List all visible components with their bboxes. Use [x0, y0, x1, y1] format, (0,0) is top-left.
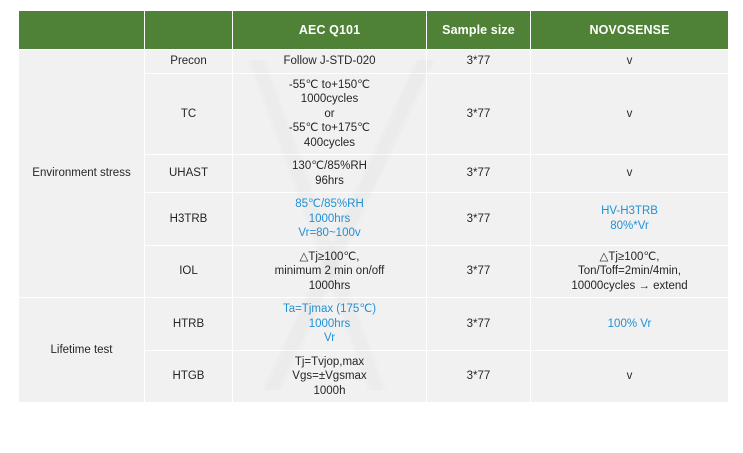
cell-line: v	[534, 369, 725, 384]
table-row: Lifetime testHTRBTa=Tjmax (175℃)1000hrsV…	[19, 298, 728, 350]
test-name-cell-precon: Precon	[145, 50, 232, 73]
column-header-sample-size: Sample size	[427, 11, 530, 49]
aec-spec-cell-precon: Follow J-STD-020	[233, 50, 426, 73]
sample-size-cell-htgb: 3*77	[427, 351, 530, 403]
aec-spec-cell-htgb: Tj=Tvjop,maxVgs=±Vgsmax1000h	[233, 351, 426, 403]
test-name-cell-uhast: UHAST	[145, 155, 232, 192]
qualification-test-table: AEC Q101 Sample size NOVOSENSE Environme…	[18, 10, 729, 403]
table-row: Environment stressPreconFollow J-STD-020…	[19, 50, 728, 73]
cell-line: △Tj≥100℃,	[236, 250, 423, 265]
novosense-spec-cell-iol: △Tj≥100℃,Ton/Toff=2min/4min,10000cycles …	[531, 246, 728, 298]
cell-line: 85℃/85%RH	[236, 197, 423, 212]
cell-line: △Tj≥100℃,	[534, 250, 725, 265]
cell-line: Tj=Tvjop,max	[236, 355, 423, 370]
column-header-category	[19, 11, 144, 49]
cell-line: 1000cycles	[236, 92, 423, 107]
novosense-spec-cell-htgb: v	[531, 351, 728, 403]
table-header: AEC Q101 Sample size NOVOSENSE	[19, 11, 728, 49]
sample-size-cell-precon: 3*77	[427, 50, 530, 73]
test-name-cell-htrb: HTRB	[145, 298, 232, 350]
test-name-cell-tc: TC	[145, 74, 232, 155]
cell-line: 1000hrs	[236, 212, 423, 227]
sample-size-cell-h3trb: 3*77	[427, 193, 530, 245]
cell-line: or	[236, 107, 423, 122]
test-name-cell-h3trb: H3TRB	[145, 193, 232, 245]
sample-size-cell-iol: 3*77	[427, 246, 530, 298]
cell-line: 96hrs	[236, 174, 423, 189]
aec-spec-cell-htrb: Ta=Tjmax (175℃)1000hrsVr	[233, 298, 426, 350]
category-cell-environment-stress: Environment stress	[19, 50, 144, 297]
cell-line: Vgs=±Vgsmax	[236, 369, 423, 384]
novosense-spec-cell-uhast: v	[531, 155, 728, 192]
screenshot-canvas: AEC Q101 Sample size NOVOSENSE Environme…	[0, 0, 743, 453]
cell-line: -55℃ to+150℃	[236, 78, 423, 93]
cell-line: Ton/Toff=2min/4min,	[534, 264, 725, 279]
novosense-spec-cell-tc: v	[531, 74, 728, 155]
column-header-aec-q101: AEC Q101	[233, 11, 426, 49]
table-body: Environment stressPreconFollow J-STD-020…	[19, 50, 728, 402]
cell-line: -55℃ to+175℃	[236, 121, 423, 136]
aec-spec-cell-tc: -55℃ to+150℃1000cyclesor-55℃ to+175℃400c…	[233, 74, 426, 155]
column-header-test	[145, 11, 232, 49]
novosense-spec-cell-htrb: 100% Vr	[531, 298, 728, 350]
test-name-cell-iol: IOL	[145, 246, 232, 298]
cell-line: 10000cycles → extend	[534, 279, 725, 294]
test-name-cell-htgb: HTGB	[145, 351, 232, 403]
table-header-row: AEC Q101 Sample size NOVOSENSE	[19, 11, 728, 49]
cell-line: 1000hrs	[236, 317, 423, 332]
column-header-novosense: NOVOSENSE	[531, 11, 728, 49]
cell-line: HV-H3TRB	[534, 204, 725, 219]
cell-line: 1000h	[236, 384, 423, 399]
cell-line: 400cycles	[236, 136, 423, 151]
cell-line: 1000hrs	[236, 279, 423, 294]
novosense-spec-cell-h3trb: HV-H3TRB80%*Vr	[531, 193, 728, 245]
cell-line: 130℃/85%RH	[236, 159, 423, 174]
cell-line: v	[534, 166, 725, 181]
cell-line: 100% Vr	[534, 317, 725, 332]
sample-size-cell-uhast: 3*77	[427, 155, 530, 192]
cell-line: Follow J-STD-020	[236, 54, 423, 69]
cell-line: minimum 2 min on/off	[236, 264, 423, 279]
sample-size-cell-htrb: 3*77	[427, 298, 530, 350]
cell-line: Vr	[236, 331, 423, 346]
cell-line: Vr=80~100v	[236, 226, 423, 241]
novosense-spec-cell-precon: v	[531, 50, 728, 73]
cell-line: 80%*Vr	[534, 219, 725, 234]
cell-line: Ta=Tjmax (175℃)	[236, 302, 423, 317]
cell-line: v	[534, 107, 725, 122]
cell-line: v	[534, 54, 725, 69]
aec-spec-cell-uhast: 130℃/85%RH96hrs	[233, 155, 426, 192]
sample-size-cell-tc: 3*77	[427, 74, 530, 155]
category-cell-lifetime-test: Lifetime test	[19, 298, 144, 402]
aec-spec-cell-iol: △Tj≥100℃,minimum 2 min on/off1000hrs	[233, 246, 426, 298]
aec-spec-cell-h3trb: 85℃/85%RH1000hrsVr=80~100v	[233, 193, 426, 245]
